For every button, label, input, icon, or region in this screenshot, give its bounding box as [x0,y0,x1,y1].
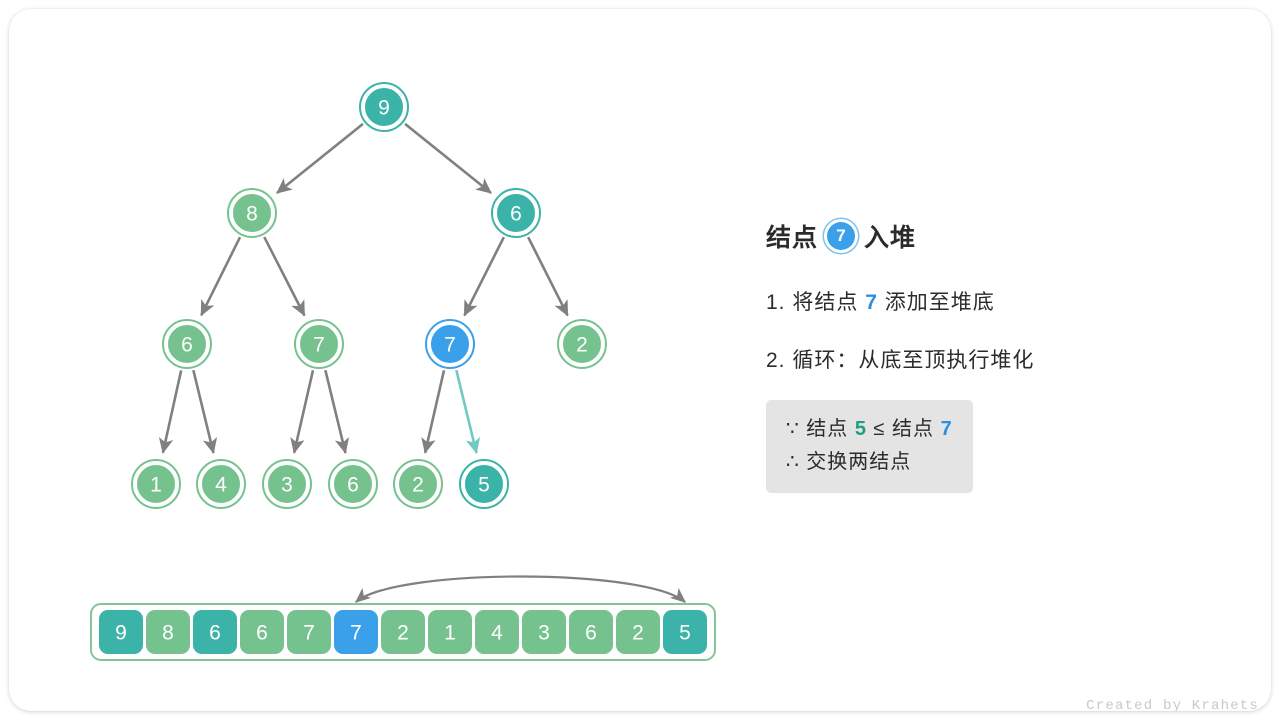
tree-node-value: 1 [150,474,162,497]
array-cell-value: 3 [538,622,550,645]
tree-node-value: 8 [246,203,258,226]
array-cell[interactable]: 5 [663,610,707,654]
tree-edge [201,237,240,315]
array-cell-value: 1 [444,622,456,645]
array-cell[interactable]: 9 [99,610,143,654]
tree-edge [528,237,567,315]
array-cell-value: 7 [350,622,362,645]
tree-node-value: 9 [378,97,390,120]
step-1-suffix: 添加至堆底 [878,291,995,314]
array-cell-value: 8 [162,622,174,645]
step-1-value: 7 [865,291,878,314]
panel-title: 结点 7 入堆 [766,214,1236,258]
tree-edge [456,370,476,453]
conclusion-box: ∵ 结点 5 ≤ 结点 7 ∴ 交换两结点 [766,400,973,493]
tree-node-value: 2 [576,334,588,357]
tree-node-value: 6 [347,474,359,497]
tree-node[interactable]: 6 [492,189,540,237]
conclusion-line-1: ∵ 结点 5 ≤ 结点 7 [786,413,953,446]
conclusion-value-b: 7 [941,418,953,440]
tree-node[interactable]: 1 [132,460,180,508]
array-cell[interactable]: 4 [475,610,519,654]
diagram-stage: 9866772143625 9866772143625 结点 7 入堆 1. 将… [9,9,1271,711]
array-cell[interactable]: 3 [522,610,566,654]
conclusion-line-1-prefix: ∵ 结点 [786,418,855,440]
tree-edge [193,370,213,453]
array-cell[interactable]: 8 [146,610,190,654]
tree-nodes: 9866772143625 [132,83,606,508]
tree-edge [294,370,313,452]
panel-title-badge: 7 [827,222,855,250]
array-representation: 9866772143625 [91,604,715,660]
panel-title-prefix: 结点 [766,218,818,254]
tree-node-value: 5 [478,474,490,497]
array-cell[interactable]: 6 [240,610,284,654]
step-1-prefix: 1. 将结点 [766,291,865,314]
array-cell-value: 6 [585,622,597,645]
tree-node[interactable]: 7 [426,320,474,368]
step-2: 2. 循环：从底至顶执行堆化 [766,344,1236,374]
tree-edge [264,237,304,315]
tree-edges [163,124,568,453]
tree-edge [464,237,503,315]
tree-node[interactable]: 3 [263,460,311,508]
array-cell-value: 7 [303,622,315,645]
tree-edge [425,370,444,452]
tree-node[interactable]: 5 [460,460,508,508]
tree-node[interactable]: 6 [163,320,211,368]
tree-node-value: 3 [281,474,293,497]
tree-node-value: 7 [444,334,456,357]
conclusion-value-a: 5 [855,418,867,440]
array-cell-value: 6 [256,622,268,645]
tree-edge [277,124,363,193]
array-cell[interactable]: 2 [616,610,660,654]
slide-card: 9866772143625 9866772143625 结点 7 入堆 1. 将… [9,9,1271,711]
tree-edge [405,124,491,193]
array-cell[interactable]: 6 [193,610,237,654]
conclusion-line-2: ∴ 交换两结点 [786,446,953,479]
array-cell-value: 5 [679,622,691,645]
array-cell[interactable]: 2 [381,610,425,654]
array-cell[interactable]: 6 [569,610,613,654]
array-cell-value: 2 [632,622,644,645]
array-cell[interactable]: 7 [287,610,331,654]
tree-edge [325,370,345,453]
step-1: 1. 将结点 7 添加至堆底 [766,286,1236,316]
tree-node[interactable]: 4 [197,460,245,508]
array-cell-value: 9 [115,622,127,645]
array-cell-value: 4 [491,622,503,645]
tree-node[interactable]: 9 [360,83,408,131]
explanation-panel: 结点 7 入堆 1. 将结点 7 添加至堆底 2. 循环：从底至顶执行堆化 ∵ … [766,214,1236,493]
tree-node-value: 6 [510,203,522,226]
step-2-prefix: 2. 循环：从底至顶执行堆化 [766,349,1034,372]
tree-node[interactable]: 7 [295,320,343,368]
conclusion-line-1-mid: ≤ 结点 [867,418,941,440]
tree-node-value: 2 [412,474,424,497]
array-cell-value: 2 [397,622,409,645]
array-swap-arrow [356,577,685,603]
array-cell[interactable]: 7 [334,610,378,654]
tree-node-value: 6 [181,334,193,357]
tree-edge [163,370,181,452]
array-cell-value: 6 [209,622,221,645]
tree-node-value: 7 [313,334,325,357]
tree-node[interactable]: 2 [394,460,442,508]
array-cell[interactable]: 1 [428,610,472,654]
swap-arrow-path [356,577,685,603]
tree-node[interactable]: 8 [228,189,276,237]
credit-text: Created by Krahets [1086,698,1259,711]
tree-node-value: 4 [215,474,227,497]
tree-node[interactable]: 2 [558,320,606,368]
tree-node[interactable]: 6 [329,460,377,508]
panel-title-suffix: 入堆 [864,218,916,254]
